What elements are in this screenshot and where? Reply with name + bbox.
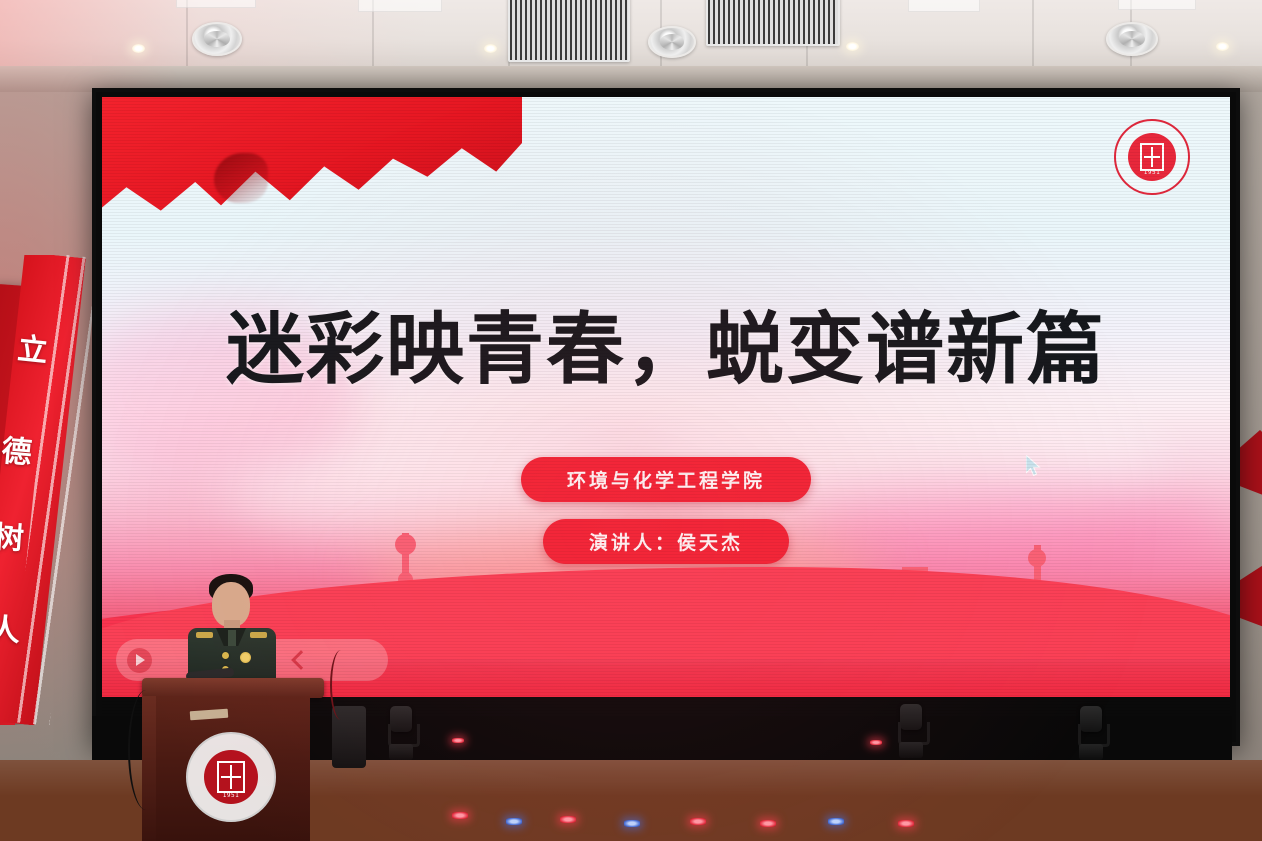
play-button[interactable]: [116, 639, 162, 681]
ceiling-panel: [176, 0, 256, 8]
banner-char-3: 树: [0, 512, 25, 558]
floor-spot-light: [760, 820, 776, 827]
downlight-icon: [132, 44, 145, 53]
red-flag-graphic: [102, 97, 522, 221]
floor-spot-light: [452, 812, 468, 819]
floor-spot-light: [898, 820, 914, 827]
chevron-left-icon: [291, 650, 311, 670]
downlight-icon: [1216, 42, 1229, 51]
podium: 1951: [142, 678, 324, 841]
floor-spot-light: [560, 816, 576, 823]
uniform-medal: [240, 652, 251, 663]
podium-seal-year: 1951: [204, 792, 258, 799]
air-vent-round-icon: [1106, 22, 1158, 56]
floor-spot-light: [690, 818, 706, 825]
floor-spot-light: [828, 818, 844, 825]
seal-year: 1951: [1128, 169, 1176, 176]
badge-date: 汇报时间：2026.4.24: [498, 581, 834, 626]
flag-fold-shadow: [214, 153, 268, 203]
air-vent-round-icon: [648, 26, 696, 58]
badge-college: 环境与化学工程学院: [521, 457, 811, 502]
moving-head-light: [898, 704, 924, 758]
downlight-icon: [484, 44, 497, 53]
audio-cable: [128, 690, 164, 810]
ceiling-panel: [1118, 0, 1196, 10]
floor-spot-light: [870, 740, 882, 745]
floor-spot-light: [506, 818, 522, 825]
back-button[interactable]: [276, 639, 322, 681]
slide-title: 迷彩映青春，蜕变谱新篇: [102, 287, 1230, 399]
ceiling-panel: [358, 0, 442, 12]
floor-spot-light: [452, 738, 464, 743]
moving-head-light: [388, 706, 414, 760]
floor-spot-light: [624, 820, 640, 827]
motto-banner: 立 德 树 人: [0, 255, 100, 725]
air-vent-louver-icon: [706, 0, 840, 46]
air-vent-louver-icon: [508, 0, 630, 62]
moving-head-light: [1078, 706, 1104, 760]
badge-presenter: 演讲人：侯天杰: [543, 519, 789, 564]
podium-university-seal: 1951: [186, 732, 272, 818]
audio-cable: [330, 650, 352, 720]
auditorium-stage-photo: 立 德 树 人 1951 迷彩映青春，蜕变谱新: [0, 0, 1262, 841]
slide-badge-list: 环境与化学工程学院 演讲人：侯天杰 汇报时间：2026.4.24: [498, 457, 834, 626]
air-vent-round-icon: [192, 22, 242, 56]
university-seal-logo: 1951: [1114, 119, 1190, 195]
banner-char-4: 人: [0, 604, 21, 650]
play-icon: [136, 654, 145, 666]
ceiling: [0, 0, 1262, 72]
banner-char-1: 立: [16, 324, 50, 371]
downlight-icon: [846, 42, 859, 51]
banner-char-2: 德: [0, 426, 34, 472]
ceiling-panel: [908, 0, 980, 12]
